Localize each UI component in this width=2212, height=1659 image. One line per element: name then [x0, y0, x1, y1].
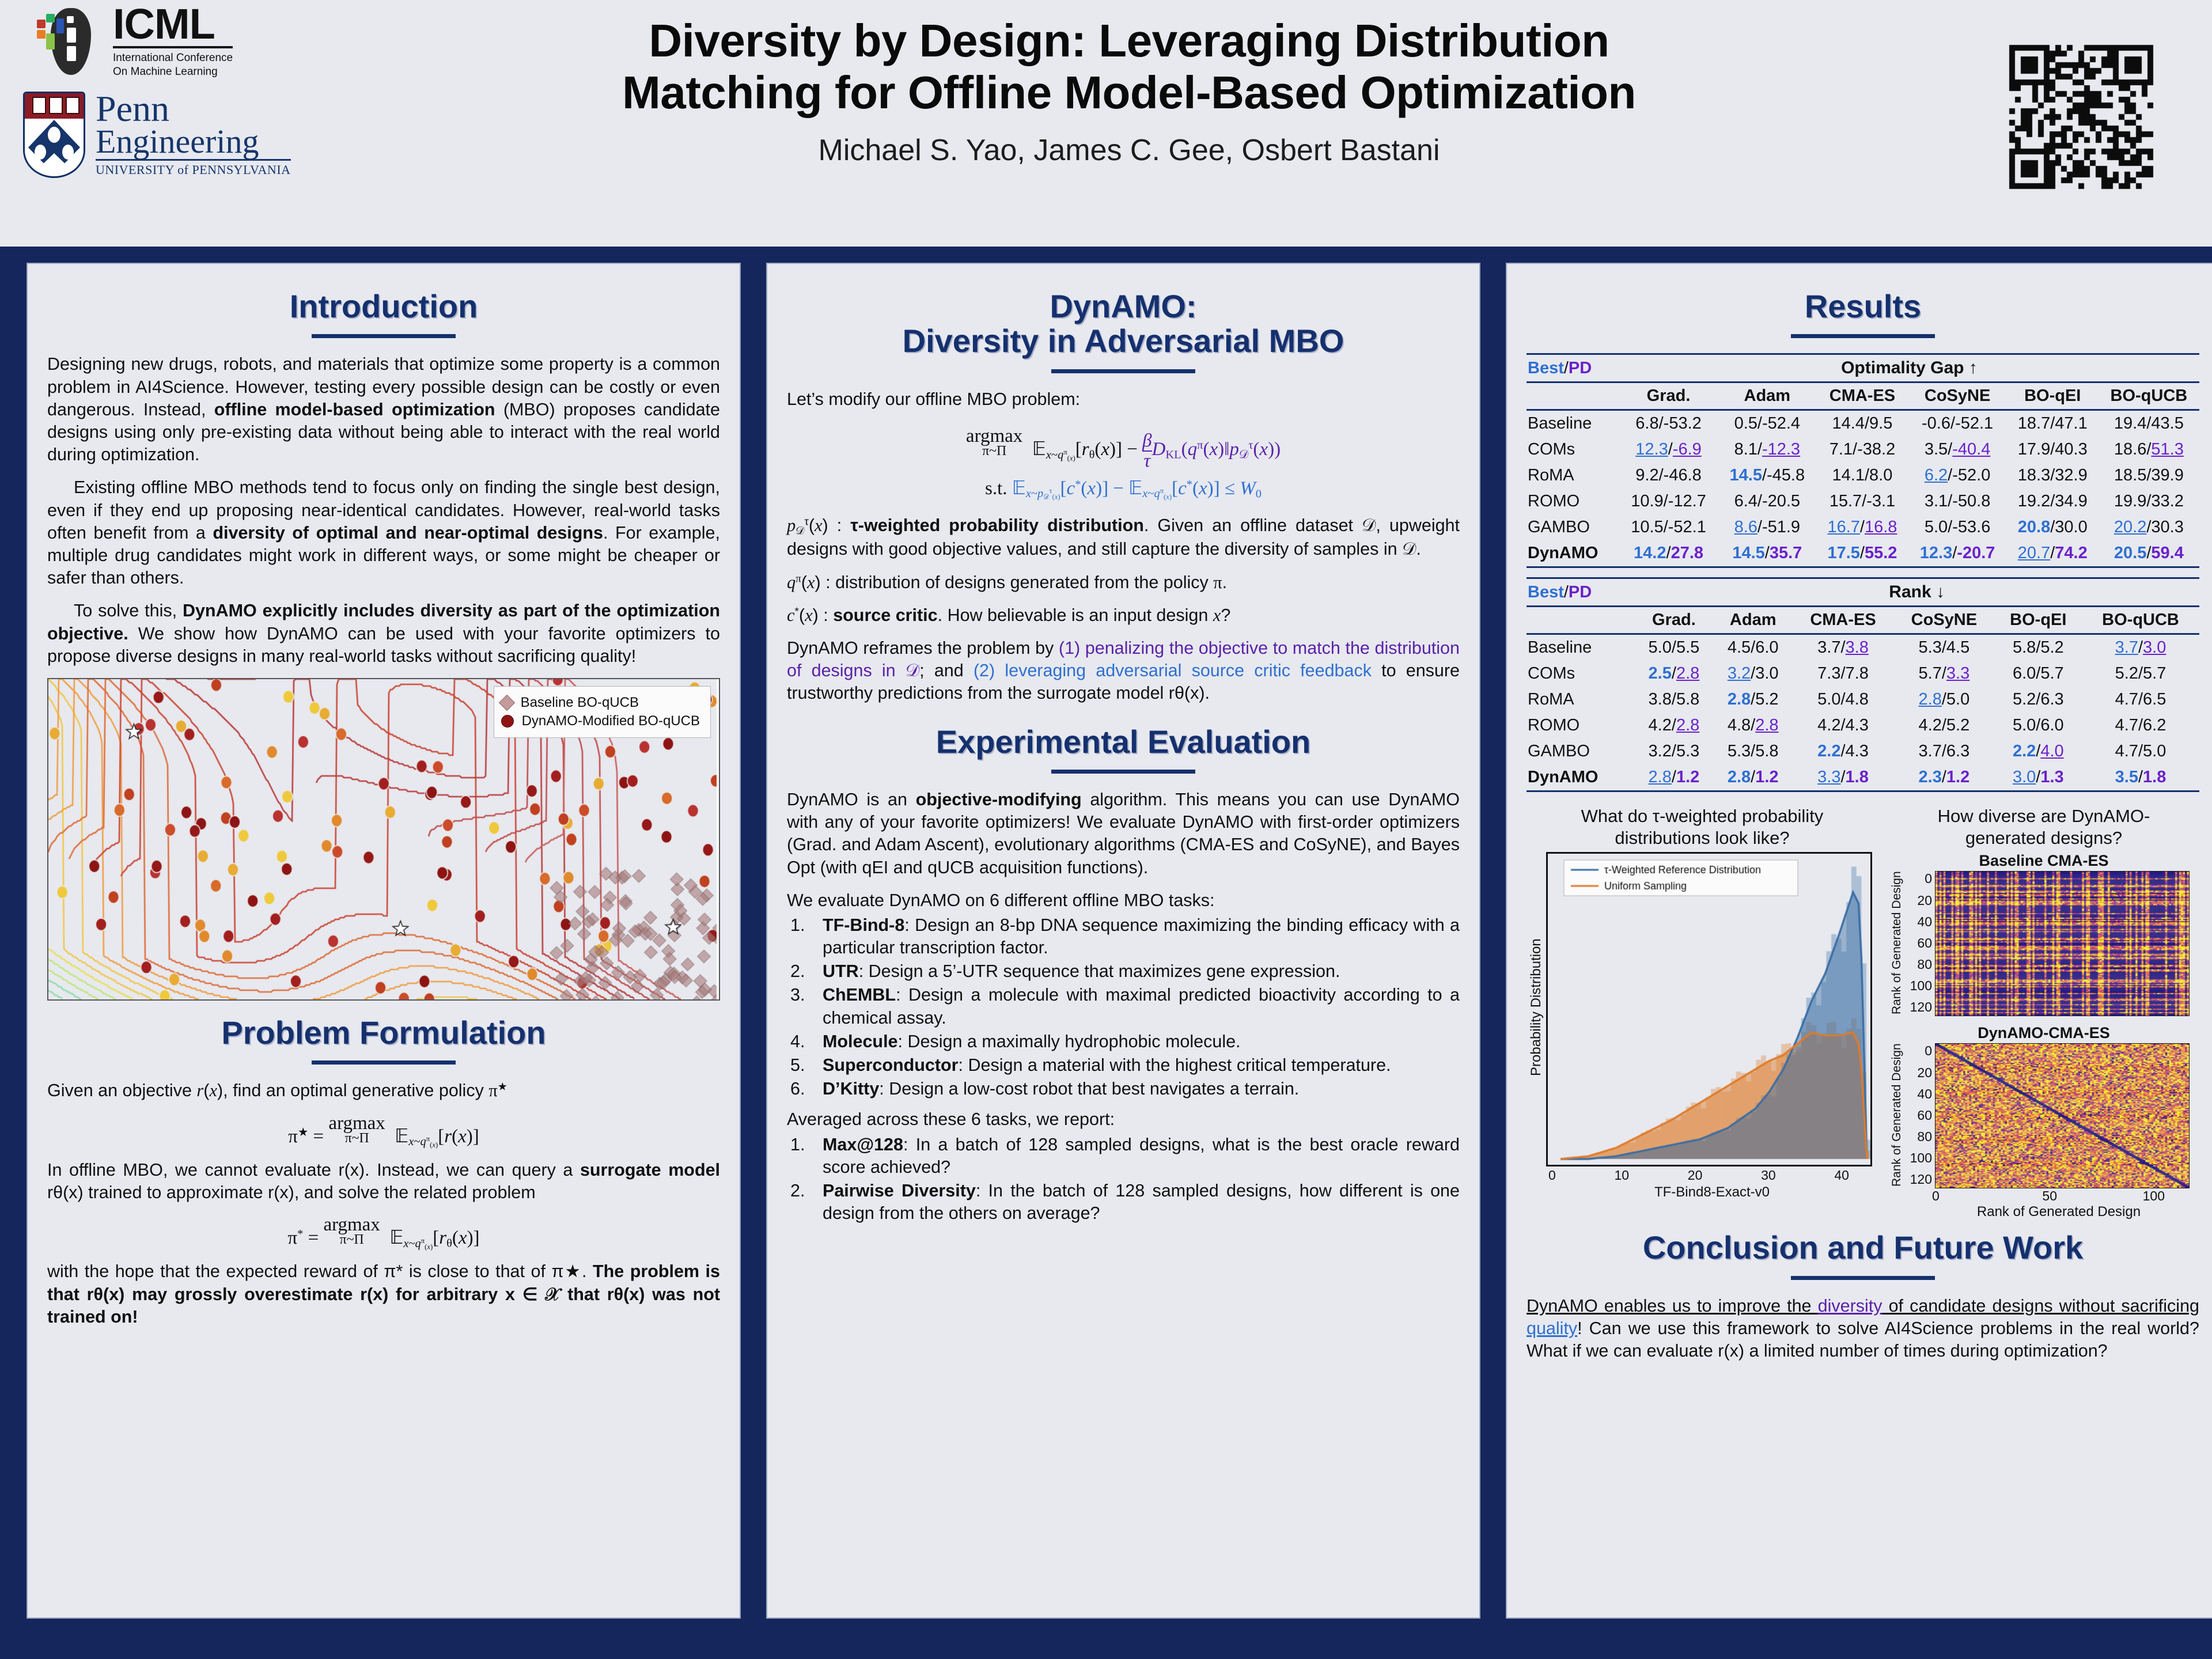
y-tick: 120 [1910, 999, 1932, 1015]
table-column-header: Adam [1718, 382, 1816, 410]
list-item: ChEMBL: Design a molecule with maximal p… [787, 984, 1460, 1029]
x-tick: 40 [1834, 1168, 1849, 1183]
dynamo-definition-3: c*(x) : source critic. How believable is… [787, 604, 1460, 627]
table-caption: Rank ↓ [1634, 578, 2199, 607]
table-cell: 4.5/6.0 [1714, 634, 1793, 661]
x-tick: 30 [1761, 1168, 1776, 1183]
table-row-label: DynAMO [1527, 540, 1619, 567]
legend-label-baseline: Baseline BO-qUCB [521, 695, 639, 711]
icml-mark-icon [35, 7, 104, 76]
heading-rule [312, 1060, 456, 1065]
experimental-metrics-lead: Averaged across these 6 tasks, we report… [787, 1108, 1460, 1131]
section-heading-experimental-evaluation: Experimental Evaluation [787, 725, 1460, 759]
table-cell: 0.5/-52.4 [1718, 410, 1816, 437]
distribution-figure-question-line2: distributions look like? [1527, 828, 1878, 849]
penn-engineering-logo: Penn Engineering UNIVERSITY of PENNSYLVA… [23, 92, 380, 178]
table-column-header: Grad. [1634, 607, 1713, 634]
table-cell: 12.3/-20.7 [1908, 540, 2006, 567]
x-tick: 0 [1932, 1188, 1940, 1204]
table-cell: 18.3/32.9 [2007, 463, 2099, 488]
table-cell: 3.7/3.8 [1793, 634, 1893, 661]
legend-circle-icon [501, 715, 514, 728]
qr-code[interactable] [1986, 22, 2176, 212]
table-cell: 18.6/51.3 [2099, 437, 2199, 463]
distribution-x-axis-label: TF-Bind8-Exact-v0 [1546, 1184, 1878, 1200]
table-cell: 15.7/-3.1 [1816, 488, 1908, 514]
y-tick: 80 [1917, 1129, 1932, 1145]
table-cell: 14.5/35.7 [1718, 540, 1816, 567]
table-cell: 6.2/-52.0 [1908, 463, 2006, 488]
metric-list: Max@128: In a batch of 128 sampled desig… [787, 1134, 1460, 1225]
heatmap-x-axis-label: Rank of Generated Design [1888, 1204, 2186, 1220]
icml-logo: ICML International Conference On Machine… [35, 5, 380, 79]
y-tick: 0 [1925, 1043, 1932, 1059]
table-column-header: BO-qEI [2007, 382, 2099, 410]
table-row-label: RoMA [1527, 687, 1634, 713]
table-row: ROMO4.2/2.84.8/2.84.2/4.34.2/5.25.0/6.04… [1527, 713, 2199, 738]
table-column-header: CoSyNE [1908, 382, 2006, 410]
y-tick: 100 [1910, 1150, 1932, 1166]
icml-wordmark: ICML [113, 5, 233, 44]
heatmap-figure-question-line1: How diverse are DynAMO- [1888, 806, 2199, 827]
distribution-figure-panel: What do τ-weighted probability distribut… [1527, 802, 1878, 1220]
list-item: Superconductor: Design a material with t… [787, 1054, 1460, 1077]
table-cell: 3.3/1.8 [1793, 764, 1893, 791]
heatmap-y-axis-label-bottom: Rank of Generated Design [1888, 1043, 1906, 1187]
table-cell: 5.3/5.8 [1714, 738, 1793, 764]
y-tick: 40 [1917, 914, 1932, 930]
table-row: RoMA3.8/5.82.8/5.25.0/4.82.8/5.05.2/6.34… [1527, 687, 2199, 713]
table-cell: 2.3/1.2 [1893, 764, 1994, 791]
heading-rule [1051, 770, 1195, 774]
table-row: ROMO10.9/-12.76.4/-20.515.7/-3.13.1/-50.… [1527, 488, 2199, 514]
table-cell: 19.4/43.5 [2099, 410, 2199, 437]
table-row-label: GAMBO [1527, 514, 1619, 540]
list-item: Pairwise Diversity: In the batch of 128 … [787, 1180, 1460, 1225]
table-cell: 4.8/2.8 [1714, 713, 1793, 738]
table-row: GAMBO3.2/5.35.3/5.82.2/4.33.7/6.32.2/4.0… [1527, 738, 2199, 764]
y-tick: 80 [1917, 957, 1932, 972]
table-row-label: COMs [1527, 437, 1619, 463]
table-cell: 19.9/33.2 [2099, 488, 2199, 514]
poster-title-line1: Diversity by Design: Leveraging Distribu… [495, 15, 1763, 67]
table-cell: 5.0/6.0 [1995, 713, 2082, 738]
heading-rule [312, 334, 456, 338]
table-row: DynAMO2.8/1.22.8/1.23.3/1.82.3/1.23.0/1.… [1527, 764, 2199, 791]
table-column-header: BO-qUCB [2082, 607, 2199, 634]
table-cell: 8.6/-51.9 [1718, 514, 1816, 540]
table-cell: 5.0/-53.6 [1908, 514, 2006, 540]
section-heading-dynamo-line2: Diversity in Adversarial MBO [787, 324, 1460, 358]
contour-scatter-figure: Baseline BO-qUCB DynAMO-Modified BO-qUCB [47, 678, 720, 1001]
table-cell: 7.1/-38.2 [1816, 437, 1908, 463]
list-item: UTR: Design a 5’-UTR sequence that maxim… [787, 960, 1460, 983]
table-column-header: CoSyNE [1893, 607, 1994, 634]
table-cell: 4.7/6.2 [2082, 713, 2199, 738]
penn-shield-icon [23, 92, 85, 178]
table-row-label: ROMO [1527, 488, 1619, 514]
experimental-paragraph-1: DynAMO is an objective-modifying algorit… [787, 789, 1460, 879]
table-cell: 10.9/-12.7 [1619, 488, 1718, 514]
section-heading-conclusion: Conclusion and Future Work [1527, 1230, 2199, 1265]
equation-optimal-policy: π★ = argmaxπ~Π 𝔼x~qπ(x)[r(x)] [47, 1113, 720, 1150]
engineering-wordmark: Engineering [96, 126, 291, 157]
table-cell: 14.1/8.0 [1816, 463, 1908, 488]
poster-authors: Michael S. Yao, James C. Gee, Osbert Bas… [495, 133, 1763, 168]
x-tick: 100 [2143, 1188, 2165, 1204]
table-cell: 2.8/1.2 [1714, 764, 1793, 791]
y-tick: 20 [1917, 1065, 1932, 1081]
table-cell: 4.2/5.2 [1893, 713, 1994, 738]
table-cell: 2.5/2.8 [1634, 661, 1713, 687]
table-cell: 14.5/-45.8 [1718, 463, 1816, 488]
table-cell: -0.6/-52.1 [1908, 410, 2006, 437]
icml-subtitle-line2: On Machine Learning [113, 65, 233, 79]
table-cell: 6.4/-20.5 [1718, 488, 1816, 514]
table-row-label: COMs [1527, 661, 1634, 687]
table-cell: 20.7/74.2 [2007, 540, 2099, 567]
y-tick: 60 [1917, 1108, 1932, 1123]
table-cell: 18.7/47.1 [2007, 410, 2099, 437]
table-cell: 17.5/55.2 [1816, 540, 1908, 567]
results-table-optimality-gap: Best/PDOptimality Gap ↑Grad.AdamCMA-ESCo… [1527, 353, 2199, 568]
heading-rule [1791, 334, 1935, 338]
table-cell: 5.8/5.2 [1995, 634, 2082, 661]
section-heading-results: Results [1527, 289, 2199, 324]
dynamo-definition-2: qπ(x) : distribution of designs generate… [787, 571, 1460, 594]
table-cell: 6.8/-53.2 [1619, 410, 1718, 437]
table-cell: 3.0/1.3 [1995, 764, 2082, 791]
x-tick: 20 [1688, 1168, 1703, 1183]
icml-subtitle-line1: International Conference [113, 51, 233, 65]
list-item: Max@128: In a batch of 128 sampled desig… [787, 1134, 1460, 1179]
table-cell: 2.2/4.3 [1793, 738, 1893, 764]
table-row: Baseline5.0/5.54.5/6.03.7/3.85.3/4.55.8/… [1527, 634, 2199, 661]
table-cell: 4.7/6.5 [2082, 687, 2199, 713]
equation-surrogate-policy: π* = argmaxπ~Π 𝔼x~qπ(x)[rθ(x)] [47, 1214, 720, 1251]
table-cell: 12.3/-6.9 [1619, 437, 1718, 463]
table-row: Baseline6.8/-53.20.5/-52.414.4/9.5-0.6/-… [1527, 410, 2199, 437]
conclusion-paragraph: DynAMO enables us to improve the diversi… [1527, 1295, 2199, 1363]
table-cell: 16.7/16.8 [1816, 514, 1908, 540]
table-row: RoMA9.2/-46.814.5/-45.814.1/8.06.2/-52.0… [1527, 463, 2199, 488]
table-cell: 3.5/1.8 [2082, 764, 2199, 791]
table-cell: 9.2/-46.8 [1619, 463, 1718, 488]
list-item: Molecule: Design a maximally hydrophobic… [787, 1031, 1460, 1053]
intro-paragraph-2: Existing offline MBO methods tend to foc… [47, 476, 720, 589]
table-cell: 14.2/27.8 [1619, 540, 1718, 567]
table-row: COMs2.5/2.83.2/3.07.3/7.85.7/3.36.0/5.75… [1527, 661, 2199, 687]
table-cell: 3.7/6.3 [1893, 738, 1994, 764]
table-column-header: BO-qUCB [2099, 382, 2199, 410]
list-item: D’Kitty: Design a low-cost robot that be… [787, 1078, 1460, 1100]
heatmap-title-dynamo: DynAMO-CMA-ES [1888, 1024, 2199, 1042]
table-cell: 5.3/4.5 [1893, 634, 1994, 661]
table-cell: 4.2/4.3 [1793, 713, 1893, 738]
legend-label-dynamo: DynAMO-Modified BO-qUCB [522, 713, 700, 729]
equation-dynamo-objective: argmaxπ~Π 𝔼x~qπ(x)[rθ(x)] − β τ DKL(qπ(x… [787, 426, 1460, 470]
y-tick: 20 [1917, 893, 1932, 908]
intro-paragraph-1: Designing new drugs, robots, and materia… [47, 353, 720, 466]
table-column-header: CMA-ES [1816, 382, 1908, 410]
table-row: GAMBO10.5/-52.18.6/-51.916.7/16.85.0/-53… [1527, 514, 2199, 540]
table-cell: 3.2/3.0 [1714, 661, 1793, 687]
table-row-label: RoMA [1527, 463, 1619, 488]
experimental-tasks-lead: We evaluate DynAMO on 6 different offlin… [787, 889, 1460, 912]
heatmap-figure-question-line2: generated designs? [1888, 828, 2199, 849]
table-cell: 5.0/5.5 [1634, 634, 1713, 661]
table-cell: 20.5/59.4 [2099, 540, 2199, 567]
table-corner-label: Best/PD [1527, 354, 1619, 382]
dynamo-summary-paragraph: DynAMO reframes the problem by (1) penal… [787, 637, 1460, 705]
task-list: TF-Bind-8: Design an 8-bp DNA sequence m… [787, 914, 1460, 1101]
table-row: COMs12.3/-6.98.1/-12.37.1/-38.23.5/-40.4… [1527, 437, 2199, 463]
table-row-label: DynAMO [1527, 764, 1634, 791]
column-introduction: Introduction Designing new drugs, robots… [26, 263, 741, 1619]
table-cell: 4.7/5.0 [2082, 738, 2199, 764]
table-cell: 20.2/30.3 [2099, 514, 2199, 540]
x-tick: 50 [2042, 1188, 2057, 1204]
legend-diamond-icon [498, 695, 514, 711]
y-tick: 60 [1917, 935, 1932, 951]
table-caption: Optimality Gap ↑ [1619, 354, 2199, 382]
distribution-figure-question-line1: What do τ-weighted probability [1527, 806, 1878, 827]
table-cell: 10.5/-52.1 [1619, 514, 1718, 540]
equation-dynamo-constraint: s.t. 𝔼x~p𝒟τ(x)[c*(x)] − 𝔼x~qπ(x)[c*(x)] … [787, 476, 1460, 502]
table-corner-label: Best/PD [1527, 578, 1634, 607]
problem-paragraph-1: Given an objective r(x), find an optimal… [47, 1080, 720, 1102]
table-cell: 5.7/3.3 [1893, 661, 1994, 687]
heading-rule [1791, 1276, 1935, 1280]
heatmap-figure-panel: How diverse are DynAMO- generated design… [1888, 802, 2199, 1220]
heading-rule [1051, 369, 1195, 373]
table-cell: 2.8/1.2 [1634, 764, 1713, 791]
table-row: DynAMO14.2/27.814.5/35.717.5/55.212.3/-2… [1527, 540, 2199, 567]
table-cell: 8.1/-12.3 [1718, 437, 1816, 463]
table-cell: 19.2/34.9 [2007, 488, 2099, 514]
table-cell: 7.3/7.8 [1793, 661, 1893, 687]
table-cell: 17.9/40.3 [2007, 437, 2099, 463]
poster-header: ICML International Conference On Machine… [0, 0, 2212, 247]
intro-paragraph-3: To solve this, DynAMO explicitly include… [47, 600, 720, 668]
dynamo-lead-text: Let’s modify our offline MBO problem: [787, 388, 1460, 411]
penn-university-line: UNIVERSITY of PENNSYLVANIA [96, 162, 291, 177]
heatmap-y-axis-label-top: Rank of Generated Design [1888, 871, 1906, 1015]
table-column-header: Grad. [1619, 382, 1718, 410]
table-row-label: Baseline [1527, 410, 1619, 437]
table-row-label: Baseline [1527, 634, 1634, 661]
x-tick: 10 [1615, 1168, 1630, 1183]
column-results: Results Best/PDOptimality Gap ↑Grad.Adam… [1506, 263, 2212, 1619]
table-cell: 5.0/4.8 [1793, 687, 1893, 713]
table-cell: 2.2/4.0 [1995, 738, 2082, 764]
table-cell: 3.7/3.0 [2082, 634, 2199, 661]
table-cell: 2.8/5.2 [1714, 687, 1793, 713]
contour-figure-legend: Baseline BO-qUCB DynAMO-Modified BO-qUCB [494, 686, 711, 738]
problem-paragraph-2: In offline MBO, we cannot evaluate r(x).… [47, 1159, 720, 1204]
table-cell: 2.8/5.0 [1893, 687, 1994, 713]
table-cell: 3.8/5.8 [1634, 687, 1713, 713]
list-item: TF-Bind-8: Design an 8-bp DNA sequence m… [787, 914, 1460, 959]
problem-paragraph-3: with the hope that the expected reward o… [47, 1260, 720, 1328]
column-dynamo: DynAMO: Diversity in Adversarial MBO Let… [766, 263, 1480, 1619]
table-row-label: GAMBO [1527, 738, 1634, 764]
table-cell: 3.1/-50.8 [1908, 488, 2006, 514]
y-tick: 120 [1910, 1172, 1932, 1187]
table-cell: 6.0/5.7 [1995, 661, 2082, 687]
table-cell: 5.2/6.3 [1995, 687, 2082, 713]
table-row-label: ROMO [1527, 713, 1634, 738]
distribution-y-axis-label: Probability Distribution [1527, 852, 1546, 1163]
y-tick: 40 [1917, 1086, 1932, 1102]
heatmap-dynamo-cmaes [1935, 1043, 2190, 1188]
table-cell: 14.4/9.5 [1816, 410, 1908, 437]
table-cell: 3.5/-40.4 [1908, 437, 2006, 463]
heatmap-title-baseline: Baseline CMA-ES [1888, 852, 2199, 870]
section-heading-problem-formulation: Problem Formulation [47, 1016, 720, 1050]
heatmap-baseline-cmaes [1935, 871, 2190, 1016]
poster-title-line2: Matching for Offline Model-Based Optimiz… [495, 67, 1763, 119]
section-heading-dynamo-line1: DynAMO: [787, 289, 1460, 324]
table-cell: 20.8/30.0 [2007, 514, 2099, 540]
table-cell: 4.2/2.8 [1634, 713, 1713, 738]
title-block: Diversity by Design: Leveraging Distribu… [495, 15, 1763, 168]
logo-group: ICML International Conference On Machine… [23, 5, 380, 178]
y-tick: 100 [1910, 978, 1932, 994]
dynamo-definition-1: p𝒟τ(x) : τ-weighted probability distribu… [787, 514, 1460, 561]
results-table-rank: Best/PDRank ↓Grad.AdamCMA-ESCoSyNEBO-qEI… [1527, 577, 2199, 792]
table-column-header: BO-qEI [1995, 607, 2082, 634]
penn-wordmark: Penn [96, 92, 291, 126]
table-cell: 5.2/5.7 [2082, 661, 2199, 687]
table-cell: 3.2/5.3 [1634, 738, 1713, 764]
table-column-header: Adam [1714, 607, 1793, 634]
section-heading-introduction: Introduction [47, 289, 720, 324]
table-cell: 18.5/39.9 [2099, 463, 2199, 488]
y-tick: 0 [1925, 871, 1932, 887]
table-column-header: CMA-ES [1793, 607, 1893, 634]
x-tick: 0 [1548, 1168, 1556, 1183]
